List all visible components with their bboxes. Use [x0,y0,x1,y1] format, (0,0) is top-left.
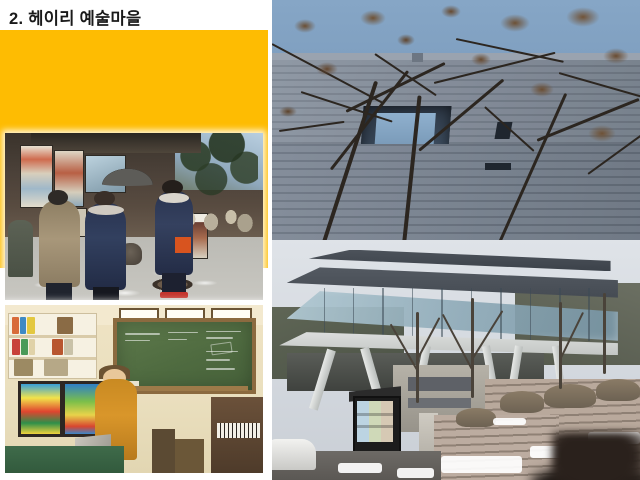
fur-collar [88,205,124,215]
notice-divider [357,425,394,428]
shelf-board [9,335,97,338]
roof-notch [412,53,423,63]
shelf-book [21,339,28,356]
snow-patch [493,418,526,425]
orange-bag [175,237,190,254]
notice-board-panels [357,401,394,442]
window-mullion [412,288,414,341]
photo-classroom [5,305,263,473]
photo-concrete-building [272,0,640,240]
chalk-writing [206,337,233,339]
chalk-writing [206,331,241,333]
shelf-book [64,339,73,356]
photo-museum-building [272,240,640,480]
photo-classroom-inner [5,305,263,473]
window-mullion [382,288,384,341]
window-mullion [530,288,532,341]
snow-patch [397,468,434,478]
shelf-book [20,317,26,334]
dried-leaves [471,53,491,66]
shrub [456,408,496,427]
chalk-writing [206,359,230,361]
museum-roof [309,250,611,272]
chalk-drawing [211,341,233,355]
shelf-book [12,339,20,356]
dried-leaves [397,34,415,46]
slide-canvas: 2. 헤이리 예술마을 [0,0,640,480]
dried-leaves [500,14,530,32]
window-mullion [588,288,590,341]
snow-patch [338,463,382,473]
dried-leaves [530,82,554,97]
notice-divider [357,413,394,416]
red-shoes [160,292,188,299]
shelf-book [27,317,35,334]
green-desk [5,446,124,473]
piano-keys [217,423,261,438]
shrub [596,379,640,401]
visitor-head [48,190,69,205]
photo-market-inner [5,133,263,300]
dried-leaves [603,48,629,64]
wooden-chair [175,439,203,473]
visitor-navy-coat [85,203,126,290]
photo-museum-inner [272,240,640,480]
visitor-navy-jacket [155,191,194,275]
shelf-object [44,359,69,376]
chalk-writing [168,332,198,334]
foreground-head-blur [552,432,640,480]
shrub [500,391,544,413]
shelf-book [52,339,63,356]
chalk-writing [206,368,236,370]
visitor-legs [93,287,119,300]
wooden-chair [152,429,175,473]
dried-leaves [441,5,461,18]
chalk-writing [168,339,187,341]
window-mullion [353,288,355,341]
bare-tree-trunk [603,293,606,375]
page-title: 2. 헤이리 예술마을 [9,5,142,29]
shrub [544,384,596,408]
poster-summer-vacation [18,381,63,437]
shelf-book [29,339,35,356]
photo-concrete-inner [272,0,640,240]
parapet-edge [272,53,640,60]
chalk-writing [125,340,149,342]
dried-leaves [588,125,616,142]
visitor-legs [46,283,72,300]
dried-leaves [360,10,386,26]
parked-car [272,439,316,470]
shelf-object [14,359,33,376]
bare-tree-trunk [559,302,562,388]
dried-leaves [566,7,600,27]
dried-leaves [279,106,297,117]
bookshelf [8,313,98,379]
shelf-book [12,317,19,334]
wall-slot [485,163,511,170]
bare-tree-trunk [471,298,474,399]
stone-statue [8,220,34,277]
chalk-writing [125,333,160,335]
dried-leaves [294,19,316,33]
shelf-object [57,317,73,334]
photo-market [5,133,263,300]
snow-patch [441,456,522,473]
visitor-khaki-coat [39,200,80,287]
